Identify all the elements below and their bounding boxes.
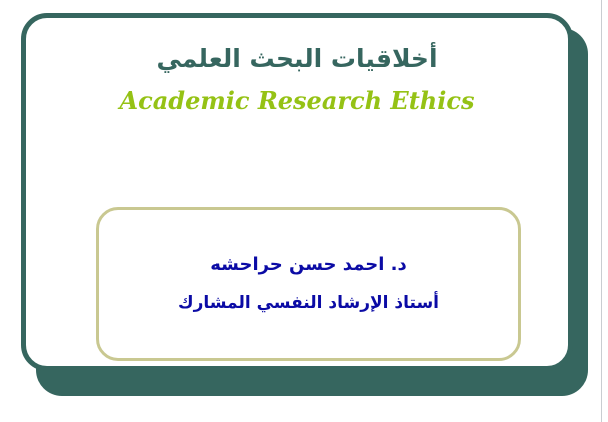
title-block: أخلاقيات البحث العلمي Academic Research … bbox=[21, 40, 573, 118]
presenter-lines: د. احمد حسن حراحشه أستاذ الإرشاد النفسي … bbox=[99, 250, 518, 318]
presentation-slide: أخلاقيات البحث العلمي Academic Research … bbox=[0, 0, 608, 422]
presenter-role: أستاذ الإرشاد النفسي المشارك bbox=[99, 288, 518, 318]
presenter-name: د. احمد حسن حراحشه bbox=[99, 250, 518, 280]
page-edge-rule bbox=[601, 0, 602, 422]
presenter-box: د. احمد حسن حراحشه أستاذ الإرشاد النفسي … bbox=[96, 207, 521, 361]
slide-title-arabic: أخلاقيات البحث العلمي bbox=[21, 40, 573, 78]
slide-title-english: Academic Research Ethics bbox=[21, 84, 573, 118]
